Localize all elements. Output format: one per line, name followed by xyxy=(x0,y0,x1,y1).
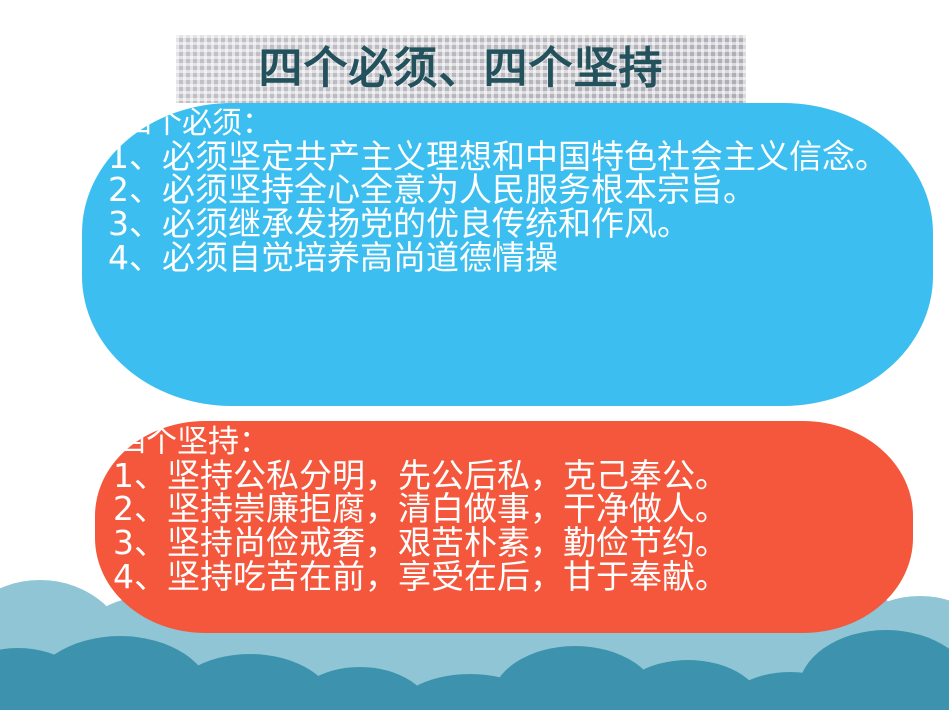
blue-panel-item-3: 3、必须继承发扬党的优良传统和作风。 xyxy=(98,207,919,241)
red-panel-item-4: 4、坚持吃苦在前，享受在后，甘于奉献。 xyxy=(111,560,899,594)
slide-title-bar: 四个必须、四个坚持 xyxy=(176,35,746,103)
red-panel-item-1: 1、坚持公私分明，先公后私，克己奉公。 xyxy=(111,459,899,493)
page-title: 四个必须、四个坚持 xyxy=(259,47,664,91)
red-panel-item-2: 2、坚持崇廉拒腐，清白做事，干净做人。 xyxy=(111,492,899,526)
red-content-panel: 四个坚持： 1、坚持公私分明，先公后私，克己奉公。 2、坚持崇廉拒腐，清白做事，… xyxy=(95,421,913,633)
blue-panel-heading: 四个必须： xyxy=(98,109,919,140)
red-panel-heading: 四个坚持： xyxy=(111,427,899,459)
blue-content-panel: 四个必须： 1、必须坚定共产主义理想和中国特色社会主义信念。 2、必须坚持全心全… xyxy=(82,103,933,406)
red-panel-item-3: 3、坚持尚俭戒奢，艰苦朴素，勤俭节约。 xyxy=(111,526,899,560)
blue-panel-item-2: 2、必须坚持全心全意为人民服务根本宗旨。 xyxy=(98,173,919,207)
slide-canvas: 四个必须、四个坚持 四个必须： 1、必须坚定共产主义理想和中国特色社会主义信念。… xyxy=(0,0,949,710)
blue-panel-item-4: 4、必须自觉培养高尚道德情操 xyxy=(98,241,919,275)
blue-panel-item-1: 1、必须坚定共产主义理想和中国特色社会主义信念。 xyxy=(98,140,919,174)
